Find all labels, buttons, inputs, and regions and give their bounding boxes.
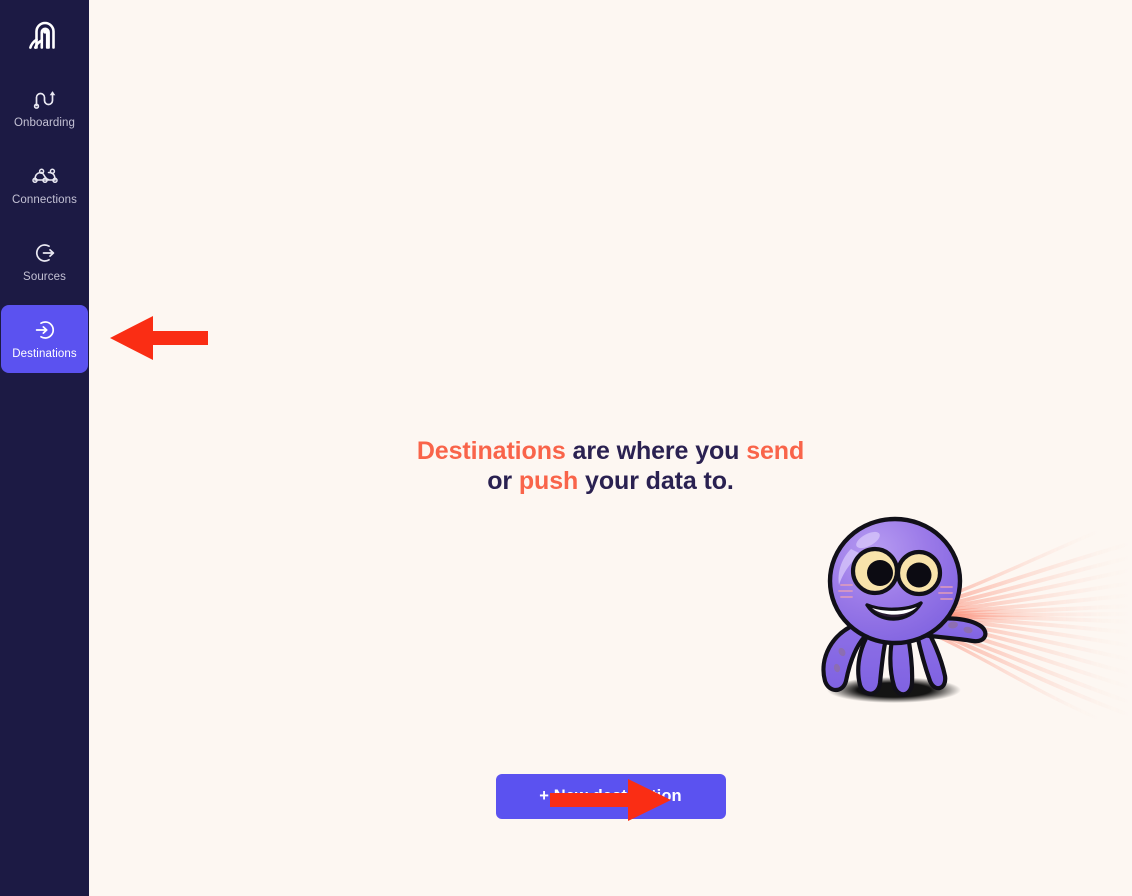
new-destination-button[interactable]: + New destination bbox=[496, 774, 726, 819]
sidebar-item-label: Sources bbox=[23, 271, 66, 284]
main-content: Destinations are where you sendor push y… bbox=[89, 0, 1132, 896]
headline-text-1: are where you bbox=[566, 437, 747, 465]
page-headline: Destinations are where you sendor push y… bbox=[417, 437, 804, 496]
onboarding-path-arrow-icon bbox=[30, 86, 60, 112]
headline-accent-push: push bbox=[519, 467, 578, 495]
sidebar-item-sources[interactable]: Sources bbox=[1, 228, 88, 296]
headline-text-3: your data to. bbox=[578, 467, 734, 495]
sidebar-item-label: Connections bbox=[12, 194, 77, 207]
purple-octopus-mascot-with-rays bbox=[89, 513, 1132, 729]
sidebar-item-label: Destinations bbox=[12, 348, 76, 361]
headline-text-2: or bbox=[487, 467, 519, 495]
arrow-out-of-circle-icon bbox=[30, 240, 60, 266]
app-logo[interactable] bbox=[0, 0, 89, 74]
sidebar-item-destinations[interactable]: Destinations bbox=[1, 305, 88, 373]
sidebar-item-label: Onboarding bbox=[14, 117, 75, 130]
octopus-illustration bbox=[89, 513, 1132, 729]
sidebar-item-onboarding[interactable]: Onboarding bbox=[1, 74, 88, 142]
rudderstack-logo-icon bbox=[23, 13, 67, 62]
arrow-into-circle-icon bbox=[30, 317, 60, 343]
destinations-empty-state: Destinations are where you sendor push y… bbox=[89, 437, 1132, 819]
sidebar: Onboarding Connections bbox=[0, 0, 89, 896]
sidebar-item-connections[interactable]: Connections bbox=[1, 151, 88, 219]
connections-nodes-icon bbox=[30, 163, 60, 189]
headline-accent-send: send bbox=[746, 437, 804, 465]
headline-accent-destinations: Destinations bbox=[417, 437, 566, 465]
